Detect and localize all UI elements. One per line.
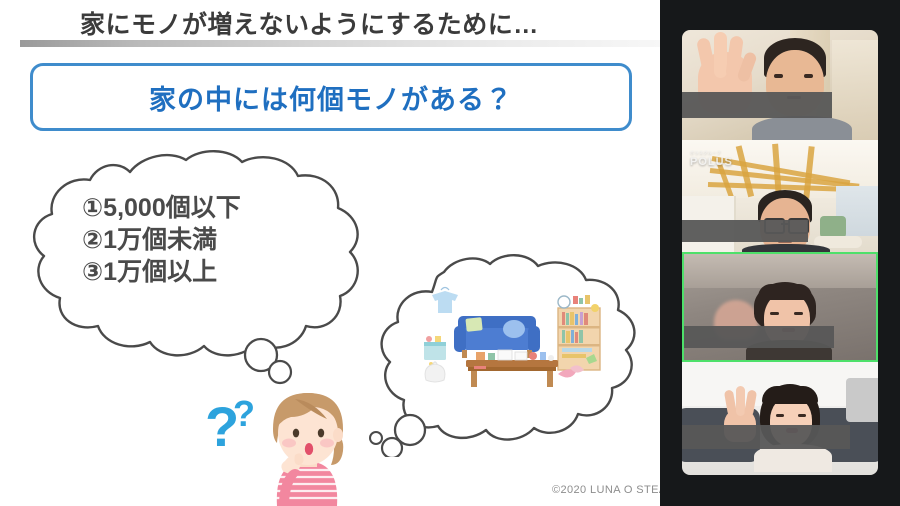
copyright-notice: ©2020 LUNA O STEA: [552, 484, 660, 496]
participant-name-redacted: [684, 326, 834, 348]
laundry-bag-icon: [425, 362, 445, 382]
video-tile-participant-1[interactable]: [682, 30, 878, 140]
participant-name-redacted: [682, 220, 808, 242]
participant-name-redacted: [682, 92, 832, 118]
svg-text:?: ?: [233, 393, 255, 434]
polus-watermark: ポラスグループ POLUS: [690, 150, 733, 168]
video-feed: [682, 30, 878, 140]
slide-title: 家にモノが増えないようにするために…: [80, 5, 539, 41]
question-box: 家の中には何個モノがある？: [30, 63, 632, 131]
answer-option-2: ②1万個未満: [82, 224, 241, 256]
answer-option-1: ①5,000個以下: [82, 192, 241, 224]
slide-area: 家にモノが増えないようにするために… 家の中には何個モノがある？ ①5,000個…: [0, 0, 660, 506]
participant-name-redacted: [682, 425, 850, 449]
toy-box-icon: [424, 336, 446, 368]
question-text: 家の中には何個モノがある？: [149, 78, 513, 117]
video-tile-participant-3[interactable]: [682, 252, 878, 362]
room-illustration: [418, 282, 608, 392]
thinking-person-illustration: [255, 385, 360, 506]
coffee-table-icon: [466, 350, 558, 387]
video-feed: [684, 254, 876, 360]
video-tile-participant-4[interactable]: [682, 362, 878, 475]
video-conference-panel: ポラスグループ POLUS: [660, 0, 900, 506]
answer-option-3: ③1万個以上: [82, 256, 241, 288]
title-divider: [20, 40, 660, 47]
video-feed: [682, 362, 878, 475]
presentation-screen: 家にモノが増えないようにするために… 家の中には何個モノがある？ ①5,000個…: [0, 0, 900, 506]
video-feed: ポラスグループ POLUS: [682, 140, 878, 252]
hanging-shirt-icon: [432, 288, 458, 314]
answer-options-list: ①5,000個以下 ②1万個未満 ③1万個以上: [82, 192, 241, 288]
watermark-text: POLUS: [690, 156, 733, 168]
video-tile-participant-2[interactable]: ポラスグループ POLUS: [682, 140, 878, 252]
